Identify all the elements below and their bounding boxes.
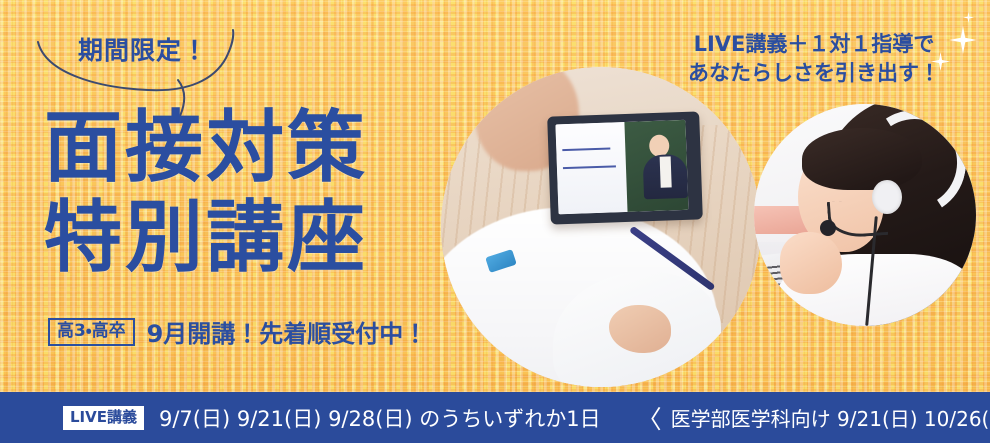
limited-time-label: 期間限定！ [78, 31, 208, 67]
whiteboard-graphic [555, 122, 627, 214]
lecture-dates: 9/7(日) 9/21(日) 9/28(日) のうちいずれか1日 [159, 403, 601, 433]
chalkboard-graphic [624, 120, 688, 212]
page-title: 面接対策 特別講座 [44, 103, 368, 284]
title-line-2: 特別講座 [44, 193, 368, 283]
promotional-banner: 期間限定！ 面接対策 特別講座 高3・高卒 9月開講！先着順受付中！ LIVE講… [0, 0, 990, 443]
student-hand [780, 232, 842, 294]
grade-badge: 高3・高卒 [48, 318, 135, 346]
subtitle-row: 高3・高卒 9月開講！先着順受付中！ [48, 314, 427, 349]
photo-student-with-tablet [441, 67, 761, 387]
student-hand [609, 305, 671, 353]
photo-student-with-headset [754, 104, 976, 326]
microphone-icon [820, 220, 836, 236]
medical-course-text: 医学部医学科向け 9/21(日) 10/26(日) [671, 403, 990, 432]
live-lecture-badge: LIVE講義 [63, 406, 144, 430]
tablet-screen [555, 120, 688, 214]
tablet-device [547, 111, 703, 224]
bottom-info-bar: LIVE講義 9/7(日) 9/21(日) 9/28(日) のうちいずれか1日 … [0, 392, 990, 443]
title-line-1: 面接対策 [44, 103, 368, 193]
catch-copy-line-1: LIVE講義＋１対１指導で [688, 30, 940, 59]
medical-course-note: 〈 医学部医学科向け 9/21(日) 10/26(日) 〉 [637, 400, 990, 436]
enrollment-note: 9月開講！先着順受付中！ [147, 314, 428, 349]
bracket-open: 〈 [637, 400, 662, 436]
teacher-body [643, 154, 689, 200]
